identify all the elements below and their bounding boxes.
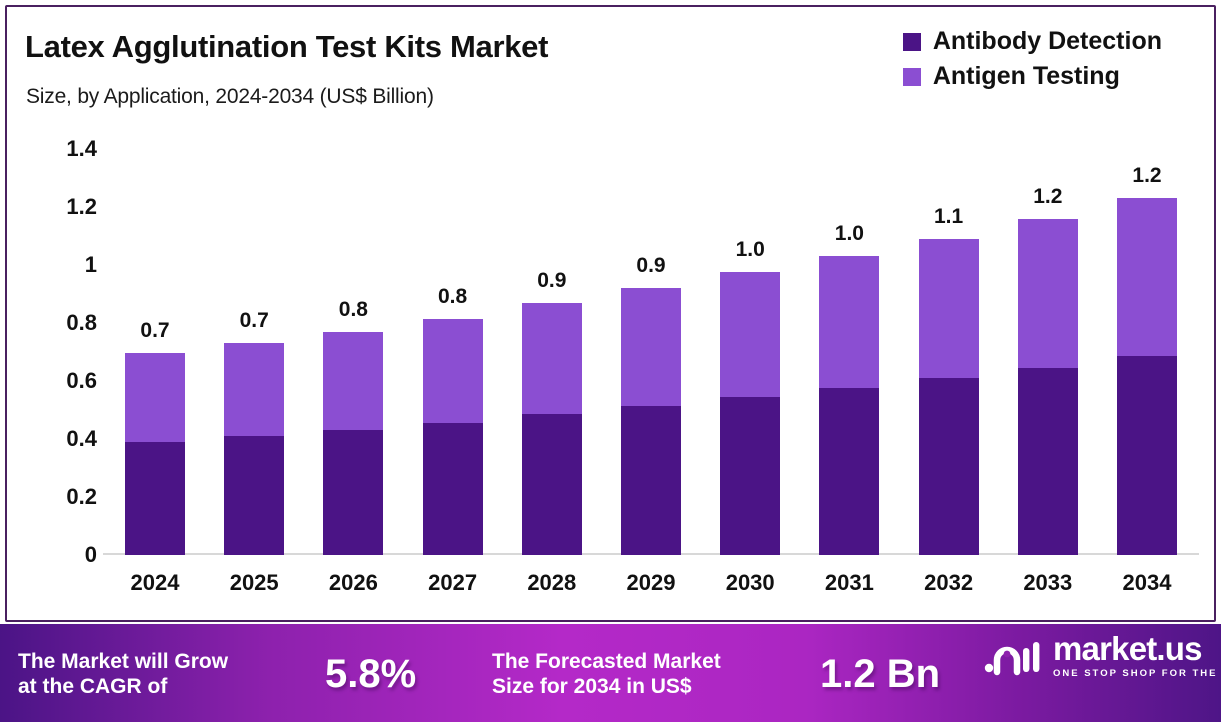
y-axis-tick-label: 1.4 — [27, 136, 97, 162]
x-axis-tick-label: 2029 — [601, 570, 701, 596]
bar-stack[interactable]: 1.0 — [819, 256, 879, 555]
market-us-logo-icon — [982, 634, 1044, 678]
bar-value-label: 0.7 — [110, 319, 200, 343]
y-axis-tick-label: 0.2 — [27, 484, 97, 510]
brand-logo[interactable]: market.us ONE STOP SHOP FOR THE REPORTS — [982, 632, 1221, 679]
bar-value-label: 0.8 — [408, 285, 498, 309]
bar-series-container: 0.70.70.80.80.90.91.01.01.11.21.2 — [103, 7, 1203, 620]
bar-segment-antibody-detection[interactable] — [621, 406, 681, 555]
bar-segment-antibody-detection[interactable] — [224, 436, 284, 555]
bar-stack[interactable]: 1.2 — [1117, 198, 1177, 555]
bar-value-label: 0.7 — [209, 309, 299, 333]
bar-stack[interactable]: 1.0 — [720, 272, 780, 555]
x-axis-tick-label: 2028 — [502, 570, 602, 596]
chart-infographic: Latex Agglutination Test Kits Market Siz… — [0, 0, 1221, 722]
cagr-caption-line2: at the CAGR of — [18, 675, 228, 700]
bar-value-label: 0.8 — [308, 298, 398, 322]
x-axis-tick-label: 2032 — [899, 570, 999, 596]
forecast-caption: The Forecasted Market Size for 2034 in U… — [492, 650, 721, 700]
bar-segment-antibody-detection[interactable] — [720, 397, 780, 555]
logo-tagline: ONE STOP SHOP FOR THE REPORTS — [1053, 668, 1221, 679]
x-axis-tick-label: 2031 — [799, 570, 899, 596]
y-axis-tick-label: 1 — [27, 252, 97, 278]
y-axis-tick-label: 0 — [27, 542, 97, 568]
x-axis-tick-label: 2030 — [700, 570, 800, 596]
bar-stack[interactable]: 0.8 — [423, 319, 483, 555]
bar-segment-antigen-testing[interactable] — [1117, 198, 1177, 356]
bar-segment-antigen-testing[interactable] — [1018, 219, 1078, 368]
logo-text: market.us ONE STOP SHOP FOR THE REPORTS — [1053, 632, 1221, 679]
bar-segment-antibody-detection[interactable] — [1018, 368, 1078, 555]
x-axis-tick-label: 2033 — [998, 570, 1098, 596]
y-axis-tick-label: 0.4 — [27, 426, 97, 452]
forecast-caption-line1: The Forecasted Market — [492, 650, 721, 675]
y-axis-tick-label: 0.8 — [27, 310, 97, 336]
bar-value-label: 1.2 — [1003, 185, 1093, 209]
bar-value-label: 0.9 — [606, 254, 696, 278]
bar-segment-antigen-testing[interactable] — [919, 239, 979, 378]
bar-segment-antibody-detection[interactable] — [819, 388, 879, 555]
bar-segment-antigen-testing[interactable] — [224, 343, 284, 436]
bar-stack[interactable]: 0.9 — [522, 303, 582, 555]
bar-value-label: 1.0 — [705, 238, 795, 262]
bar-segment-antigen-testing[interactable] — [522, 303, 582, 415]
bar-value-label: 1.2 — [1102, 164, 1192, 188]
x-axis-tick-label: 2034 — [1097, 570, 1197, 596]
x-axis-tick-label: 2027 — [403, 570, 503, 596]
plot-area: 00.20.40.60.811.21.4 0.70.70.80.80.90.91… — [7, 7, 1216, 620]
bar-value-label: 0.9 — [507, 269, 597, 293]
bar-segment-antibody-detection[interactable] — [125, 442, 185, 555]
bar-segment-antigen-testing[interactable] — [819, 256, 879, 388]
x-axis-tick-label: 2026 — [303, 570, 403, 596]
bar-segment-antibody-detection[interactable] — [323, 430, 383, 555]
bar-segment-antigen-testing[interactable] — [720, 272, 780, 397]
y-axis: 00.20.40.60.811.21.4 — [17, 7, 97, 620]
forecast-caption-line2: Size for 2034 in US$ — [492, 675, 721, 700]
bar-stack[interactable]: 1.2 — [1018, 219, 1078, 555]
bar-segment-antibody-detection[interactable] — [423, 423, 483, 555]
bar-stack[interactable]: 0.7 — [224, 343, 284, 555]
bar-segment-antigen-testing[interactable] — [125, 353, 185, 441]
y-axis-tick-label: 0.6 — [27, 368, 97, 394]
logo-wordmark: market.us — [1053, 632, 1221, 665]
y-axis-tick-label: 1.2 — [27, 194, 97, 220]
bar-segment-antibody-detection[interactable] — [1117, 356, 1177, 555]
bar-segment-antigen-testing[interactable] — [323, 332, 383, 431]
bar-segment-antibody-detection[interactable] — [919, 378, 979, 555]
cagr-value: 5.8% — [325, 652, 416, 697]
bar-value-label: 1.0 — [804, 222, 894, 246]
bar-value-label: 1.1 — [904, 205, 994, 229]
bar-stack[interactable]: 0.9 — [621, 288, 681, 555]
bar-segment-antibody-detection[interactable] — [522, 414, 582, 555]
bar-segment-antigen-testing[interactable] — [423, 319, 483, 423]
x-axis-tick-label: 2024 — [105, 570, 205, 596]
forecast-value: 1.2 Bn — [820, 652, 940, 697]
bar-segment-antigen-testing[interactable] — [621, 288, 681, 405]
bar-stack[interactable]: 0.7 — [125, 353, 185, 555]
cagr-caption-line1: The Market will Grow — [18, 650, 228, 675]
chart-card: Latex Agglutination Test Kits Market Siz… — [5, 5, 1216, 622]
bar-stack[interactable]: 1.1 — [919, 239, 979, 555]
bar-stack[interactable]: 0.8 — [323, 332, 383, 555]
x-axis-tick-label: 2025 — [204, 570, 304, 596]
cagr-caption: The Market will Grow at the CAGR of — [18, 650, 228, 700]
